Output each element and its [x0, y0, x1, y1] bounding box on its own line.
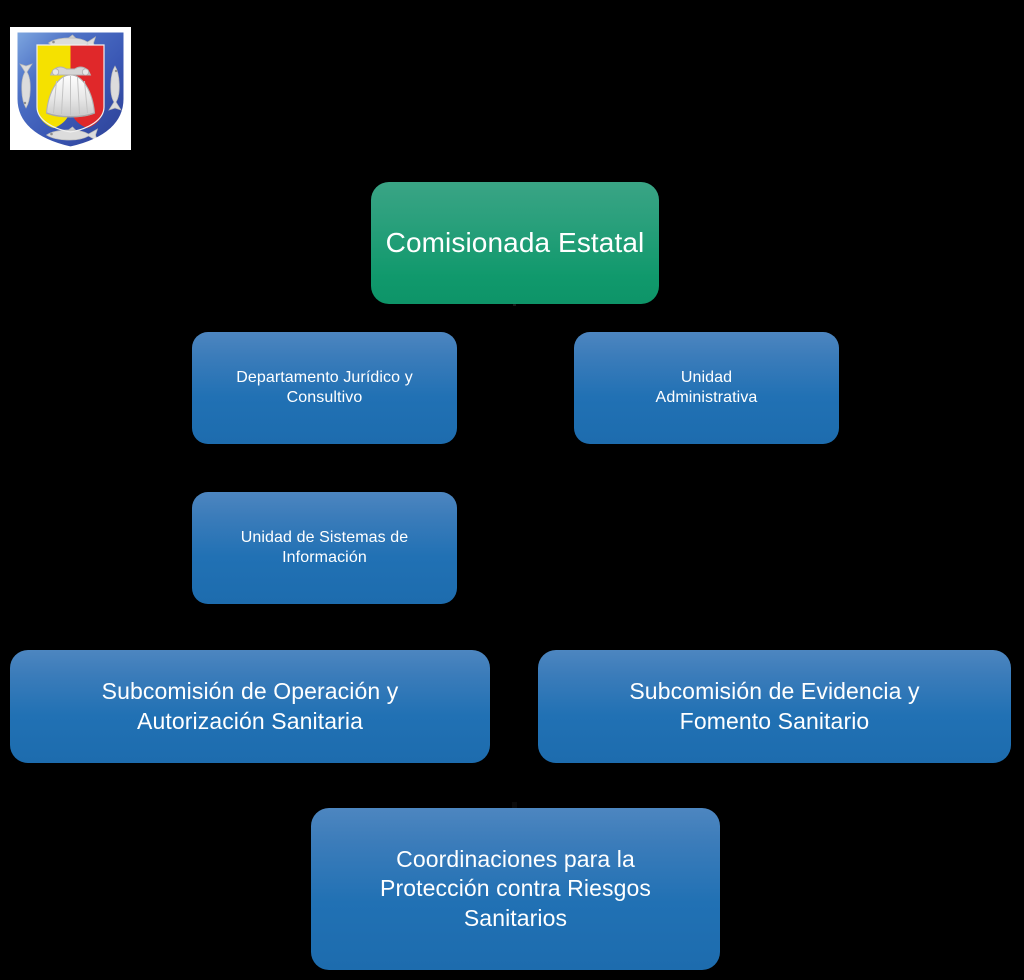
org-node-subcomision-de-operacion-y-autorizacion-sanitaria[interactable]: Subcomisión de Operación y Autorización … — [10, 650, 490, 763]
org-node-label: Comisionada Estatal — [381, 225, 649, 261]
org-node-label: Departamento Jurídico y Consultivo — [202, 368, 447, 409]
org-node-coordinaciones-para-la-proteccion-contra-riesgos-sanitarios[interactable]: Coordinaciones para la Protección contra… — [311, 808, 720, 970]
org-node-departamento-juridico-y-consultivo[interactable]: Departamento Jurídico y Consultivo — [192, 332, 457, 444]
org-node-label: Subcomisión de Evidencia y Fomento Sanit… — [548, 677, 1001, 736]
org-node-label: Unidad de Sistemas de Información — [202, 528, 447, 569]
org-node-label: Unidad Administrativa — [584, 368, 829, 409]
org-node-comisionada-estatal[interactable]: Comisionada Estatal — [371, 182, 659, 304]
org-node-label: Subcomisión de Operación y Autorización … — [20, 677, 480, 736]
org-node-unidad-de-sistemas-de-informacion[interactable]: Unidad de Sistemas de Información — [192, 492, 457, 604]
org-chart-canvas: Comisionada Estatal Departamento Jurídic… — [0, 0, 1024, 980]
org-node-unidad-administrativa[interactable]: Unidad Administrativa — [574, 332, 839, 444]
org-node-subcomision-de-evidencia-y-fomento-sanitario[interactable]: Subcomisión de Evidencia y Fomento Sanit… — [538, 650, 1011, 763]
org-node-label: Coordinaciones para la Protección contra… — [321, 845, 710, 933]
coat-of-arms-icon — [10, 27, 131, 150]
